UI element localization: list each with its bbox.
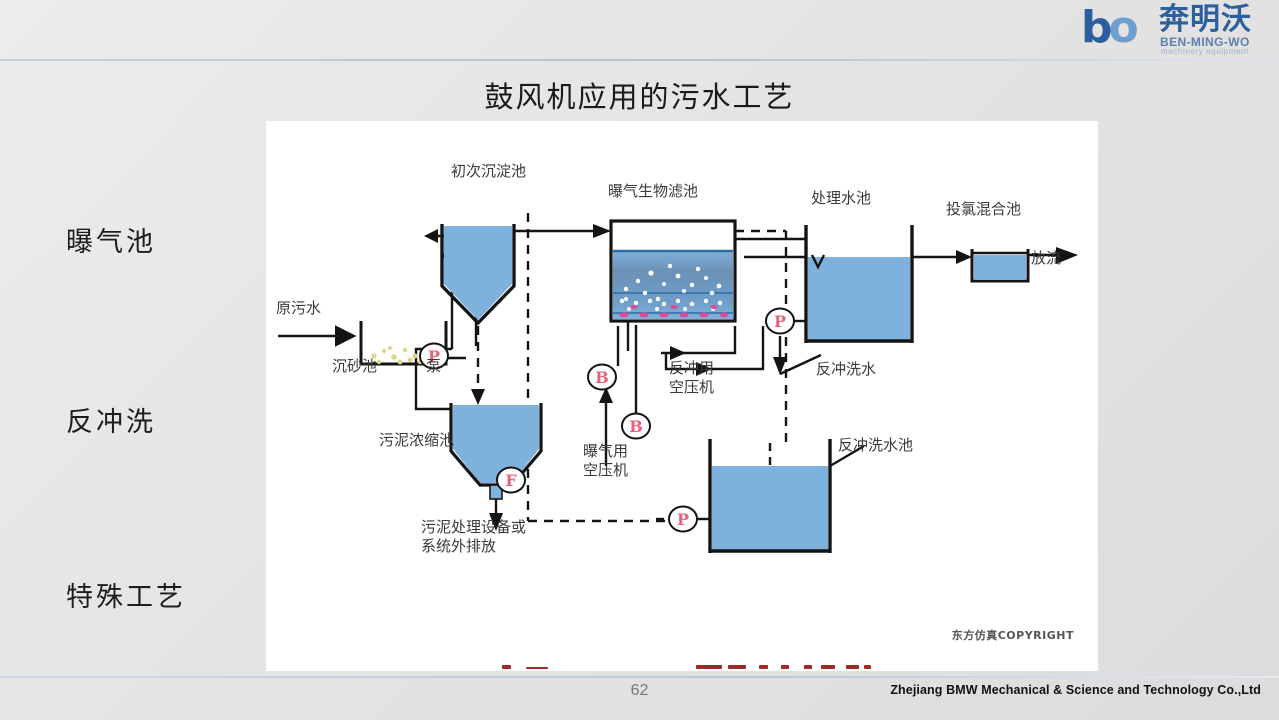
sidebar-item-special-process[interactable]: 特殊工艺 bbox=[66, 575, 186, 614]
company-logo: bo 奔明沃 BEN-MING-WO machinery equipment bbox=[1081, 4, 1271, 56]
valve-symbol-1: F bbox=[497, 468, 525, 493]
diagram-label-discharge: 放流 bbox=[1031, 249, 1061, 267]
watermark: 东方仿真COPYRIGHT bbox=[952, 627, 1074, 643]
diagram-label-chlorine-mixing-tank: 投氯混合池 bbox=[946, 200, 1021, 218]
sidebar-item-backwash[interactable]: 反冲洗 bbox=[66, 400, 156, 439]
page-title: 鼓风机应用的污水工艺 bbox=[0, 74, 1279, 116]
svg-text:B: B bbox=[595, 368, 609, 387]
blower-symbol-1: B bbox=[588, 365, 616, 390]
slide: bo 奔明沃 BEN-MING-WO machinery equipment 鼓… bbox=[0, 0, 1279, 720]
header-divider bbox=[0, 59, 1279, 61]
diagram-label-treated-water-tank: 处理水池 bbox=[811, 189, 871, 207]
svg-text:F: F bbox=[505, 471, 517, 490]
footer-divider bbox=[0, 676, 1279, 678]
logo-brand-cn: 奔明沃 bbox=[1159, 4, 1252, 36]
blower-symbol-2: B bbox=[622, 414, 650, 439]
diagram-label-aeration-compressor: 曝气用空压机 bbox=[583, 442, 628, 479]
footer-company-name: Zhejiang BMW Mechanical & Science and Te… bbox=[890, 683, 1261, 697]
diagram-label-pump-1: 泵 bbox=[426, 357, 441, 375]
svg-text:P: P bbox=[774, 312, 786, 331]
diagram-panel: PBBPPF 原污水沉砂池泵初次沉淀池曝气生物滤池处理水池投氯混合池放流污泥浓缩… bbox=[266, 121, 1098, 671]
diagram-label-grit-chamber: 沉砂池 bbox=[332, 357, 377, 375]
diagram-label-backwash-water: 反冲洗水 bbox=[816, 360, 876, 378]
logo-mark-icon: bo bbox=[1081, 6, 1135, 50]
pump-symbol-3: P bbox=[669, 507, 697, 532]
wastewater-process-diagram: PBBPPF 原污水沉砂池泵初次沉淀池曝气生物滤池处理水池投氯混合池放流污泥浓缩… bbox=[266, 121, 1098, 671]
diagram-label-aerated-bio-filter: 曝气生物滤池 bbox=[608, 182, 698, 200]
cropped-red-text-artifact bbox=[496, 662, 916, 671]
diagram-label-primary-settling-tank: 初次沉淀池 bbox=[451, 162, 526, 180]
diagram-label-backwash-compressor: 反冲用空压机 bbox=[669, 359, 714, 396]
logo-tagline: machinery equipment bbox=[1161, 47, 1249, 56]
diagram-label-raw-sewage: 原污水 bbox=[276, 299, 321, 317]
slide-header: bo 奔明沃 BEN-MING-WO machinery equipment bbox=[0, 0, 1279, 60]
diagram-label-backwash-water-tank: 反冲洗水池 bbox=[838, 436, 913, 454]
svg-text:P: P bbox=[677, 510, 689, 529]
diagram-label-sludge-thickener: 污泥浓缩池 bbox=[379, 431, 454, 449]
svg-text:B: B bbox=[629, 417, 643, 436]
sidebar-item-aeration-tank[interactable]: 曝气池 bbox=[66, 220, 156, 259]
pump-symbol-2: P bbox=[766, 309, 794, 334]
diagram-label-sludge-outlet: 污泥处理设备或系统外排放 bbox=[421, 518, 526, 555]
